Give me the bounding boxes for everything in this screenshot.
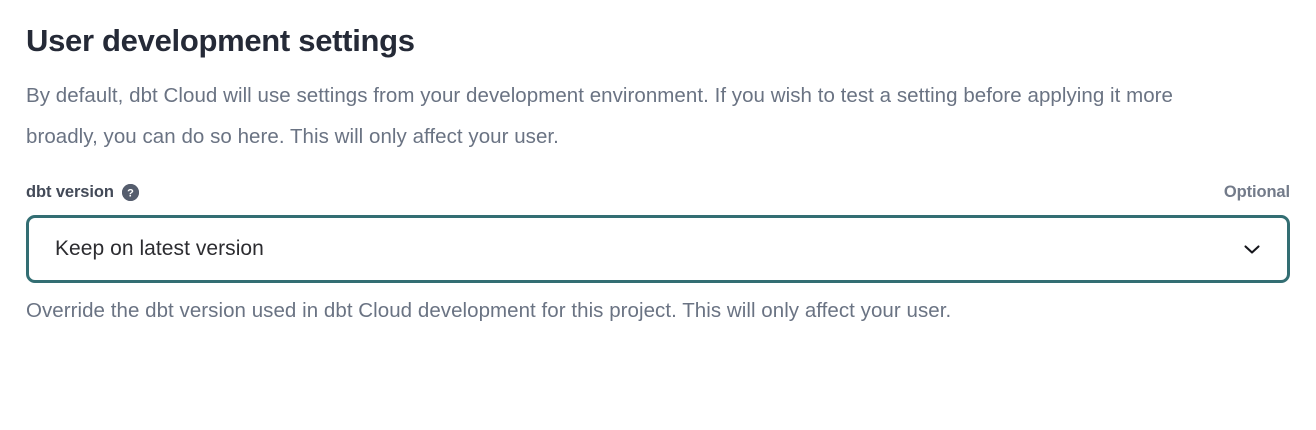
section-description: By default, dbt Cloud will use settings …	[26, 62, 1238, 157]
optional-badge: Optional	[1224, 182, 1290, 202]
dbt-version-select[interactable]: Keep on latest version	[26, 215, 1290, 283]
dbt-version-hint: Override the dbt version used in dbt Clo…	[26, 283, 1290, 325]
dbt-version-field: dbt version ? Optional Keep on latest ve…	[26, 181, 1290, 325]
help-question-icon[interactable]: ?	[122, 184, 139, 201]
dbt-version-label-group: dbt version ?	[26, 182, 139, 202]
dbt-version-label-row: dbt version ? Optional	[26, 181, 1290, 203]
dbt-version-label: dbt version	[26, 182, 114, 202]
page-title: User development settings	[26, 0, 1290, 62]
chevron-down-icon[interactable]	[1239, 236, 1265, 262]
dbt-version-selected-value: Keep on latest version	[55, 236, 1239, 262]
user-development-settings-panel: User development settings By default, db…	[0, 0, 1316, 430]
svg-text:?: ?	[127, 187, 134, 199]
